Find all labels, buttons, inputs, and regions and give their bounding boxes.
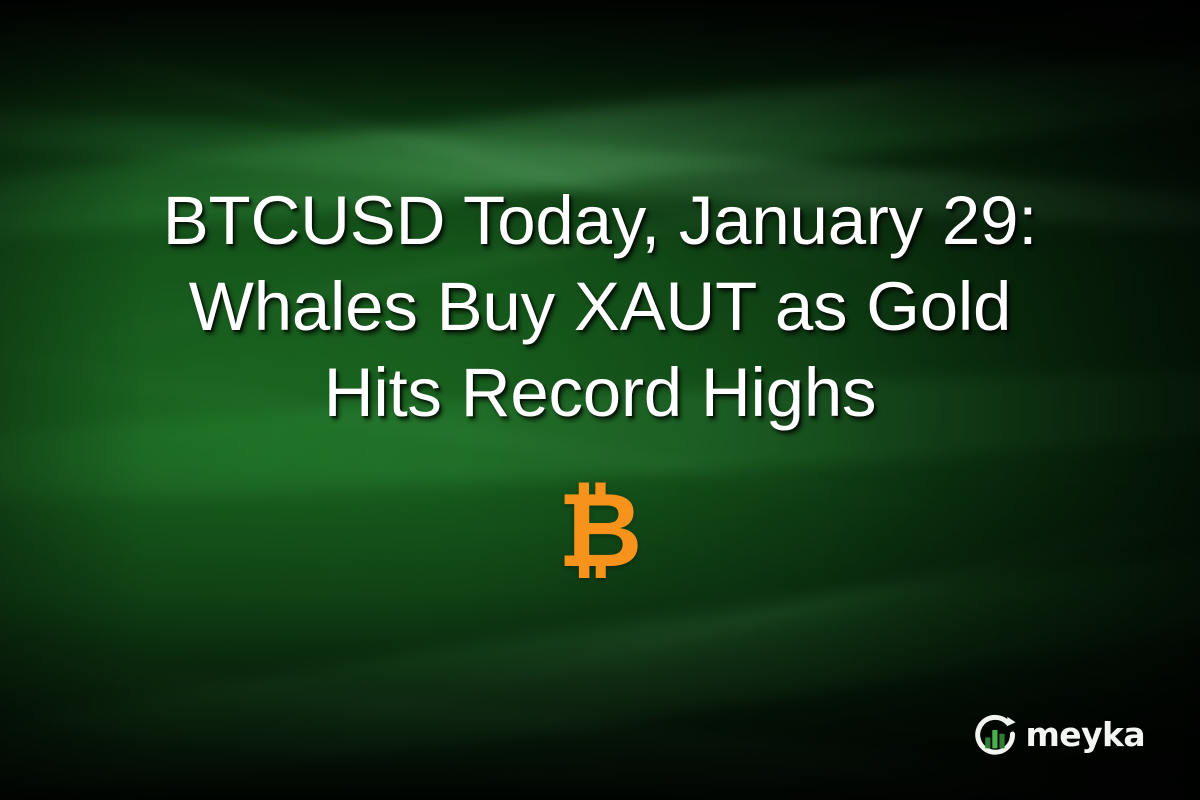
hero-content: BTCUSD Today, January 29: Whales Buy XAU… — [0, 0, 1200, 800]
bitcoin-symbol-icon: ₿ — [558, 478, 643, 582]
page-title: BTCUSD Today, January 29: Whales Buy XAU… — [70, 178, 1130, 436]
article-hero-card: BTCUSD Today, January 29: Whales Buy XAU… — [0, 0, 1200, 800]
